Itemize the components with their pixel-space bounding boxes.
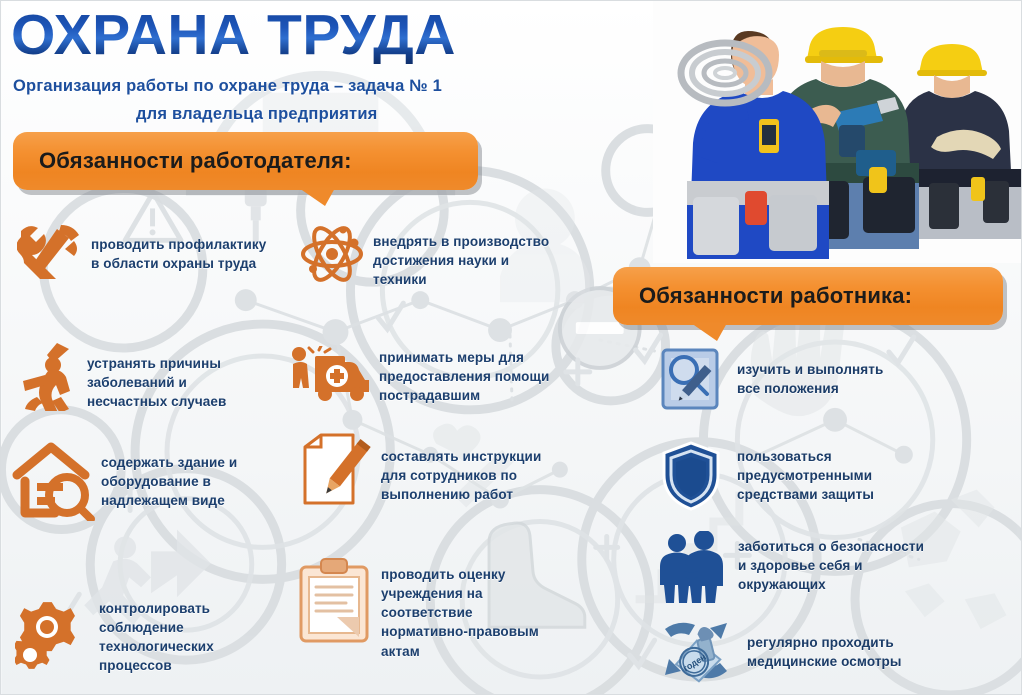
falling-person-icon [17,341,79,411]
employer-item-prevention: проводить профилактику в области охраны … [17,223,301,279]
employer-item-instructions-text: составлять инструкции для сотрудников по… [381,433,571,504]
employee-banner-label: Обязанности работника: [613,283,912,309]
employee-item-study-text: изучить и выполнять все положения [737,346,927,398]
workers-photo [653,1,1022,263]
poster-subtitle-line-2: для владельца предприятия [136,105,378,124]
shield-icon [661,441,721,511]
employer-banner: Обязанности работодателя: [13,132,478,190]
infographic-poster: ОХРАНА ТРУДА Организация работы по охран… [0,0,1022,695]
gears-runner-icon [15,593,93,671]
employer-item-control: контролировать соблюдение технологически… [15,593,264,676]
employer-banner-bubble: Обязанности работодателя: [13,132,478,190]
employer-item-instructions: составлять инструкции для сотрудников по… [299,433,571,515]
house-magnifier-icon [11,439,95,521]
atom-icon [301,223,363,285]
employee-item-medical-text: регулярно проходить медицинские осмотры [747,619,937,671]
employer-item-causes-text: устранять причины заболеваний и несчастн… [87,341,277,411]
two-people-icon [656,531,728,603]
stamp-icon: годен [661,619,733,687]
employer-item-control-text: контролировать соблюдение технологически… [99,593,264,676]
employer-item-assessment: проводить оценку учреждения на соответст… [297,557,576,661]
employer-item-science: внедрять в производство достижения науки… [301,223,588,289]
employer-item-assessment-text: проводить оценку учреждения на соответст… [381,557,576,661]
employee-item-medical: годен регулярно проходить медицинские ос… [661,619,937,687]
employee-banner-bubble: Обязанности работника: [613,267,1003,325]
poster-title: ОХРАНА ТРУДА [11,7,456,64]
employee-item-study: изучить и выполнять все положения [659,346,927,412]
wrench-hammer-icon [17,223,85,279]
employee-item-ppe-text: пользоваться предусмотренными средствами… [737,441,932,504]
employee-item-care-text: заботиться о безопасности и здоровье себ… [738,531,953,594]
employer-item-causes: устранять причины заболеваний и несчастн… [17,341,277,411]
employer-banner-label: Обязанности работодателя: [13,148,352,174]
employer-item-building-text: содержать здание и оборудование в надлеж… [101,439,286,510]
document-pencil-icon [299,433,373,515]
employee-item-ppe: пользоваться предусмотренными средствами… [661,441,932,511]
employee-banner: Обязанности работника: [613,267,1003,325]
employer-item-building: содержать здание и оборудование в надлеж… [11,439,286,521]
employer-item-prevention-text: проводить профилактику в области охраны … [91,223,301,273]
ambulance-icon [289,346,371,404]
employer-item-aid: принимать меры для предоставления помощи… [289,346,584,405]
employer-item-science-text: внедрять в производство достижения науки… [373,223,588,289]
employee-item-care: заботиться о безопасности и здоровье себ… [656,531,953,603]
magnifier-pencil-icon [659,346,721,412]
employer-item-aid-text: принимать меры для предоставления помощи… [379,346,584,405]
clipboard-icon [297,557,373,643]
poster-subtitle-line-1: Организация работы по охране труда – зад… [13,77,442,96]
